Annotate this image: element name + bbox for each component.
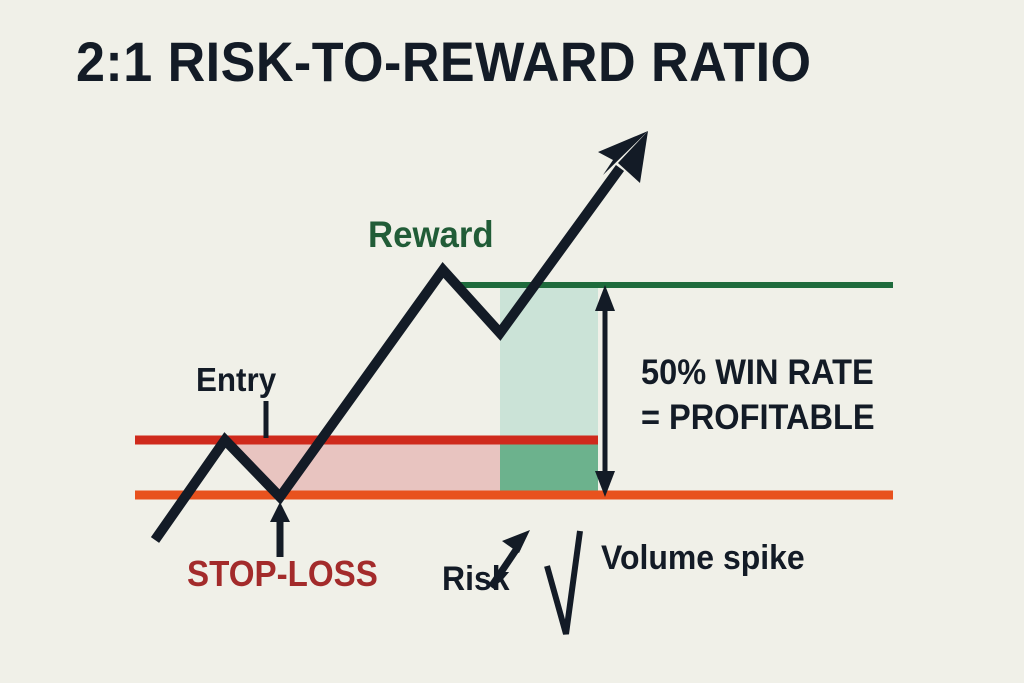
- page-title: 2:1 RISK-TO-REWARD RATIO: [76, 34, 811, 90]
- win-rate-label-line2: = PROFITABLE: [641, 400, 875, 435]
- stop-loss-label: STOP-LOSS: [187, 556, 378, 592]
- reward-zone-lower-fill: [500, 440, 598, 495]
- infographic-canvas: 2:1 RISK-TO-REWARD RATIO Reward Entry ST…: [0, 0, 1024, 683]
- entry-label: Entry: [196, 363, 276, 396]
- volume-spike-label: Volume spike: [601, 541, 805, 575]
- volume-spike-check-icon: [547, 531, 580, 634]
- stop-loss-pointer-arrowhead-icon: [270, 502, 290, 522]
- risk-label: Risk: [442, 562, 510, 596]
- risk-pointer-arrowhead-icon: [502, 530, 530, 553]
- risk-reward-chart: [0, 0, 1024, 683]
- reward-label: Reward: [368, 216, 494, 253]
- win-rate-label-line1: 50% WIN RATE: [641, 355, 874, 390]
